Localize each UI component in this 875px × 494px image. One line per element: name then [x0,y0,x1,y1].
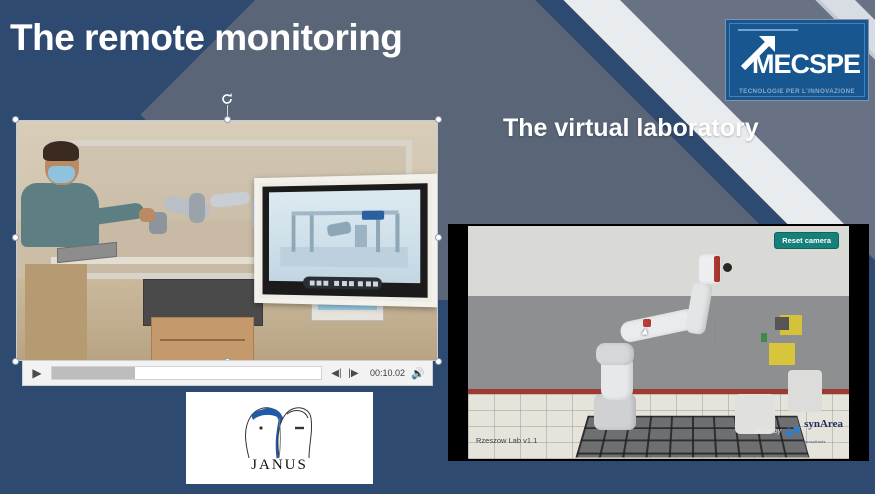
right-section-heading: The virtual laboratory [503,114,759,143]
simulation-yellow-machine-lower [769,343,795,365]
video-controls-bar[interactable]: ▶ ◀| |▶ 00:10.02 🔊 [22,360,433,386]
step-back-button[interactable]: ◀| [328,368,345,379]
reset-camera-button[interactable]: Reset camera [774,232,839,249]
simulation-dark-panel [775,317,789,330]
mecspe-logo: MECSPE TECNOLOGIE PER L'INNOVAZIONE [725,19,869,101]
presentation-slide: The remote monitoring MECSPE TECNOLOGIE … [0,0,875,494]
lab-cardboard-boxes [151,317,254,361]
video-time-label: 00:10.02 [370,368,405,378]
janus-logo: JANUS [183,389,376,487]
wall-display-simulation-image [269,189,421,283]
wall-display-toolbar [304,277,383,290]
synarea-wordmark: synArea [804,418,843,430]
simulation-robot-tool [712,319,715,347]
synarea-logo: synArea consultants [784,415,843,447]
wall-sim-blue-part [362,210,384,219]
operator-hand [139,208,155,222]
simulation-robot-joint-2 [596,343,634,365]
video-progress-bar[interactable] [51,366,322,380]
mecspe-logo-inner: MECSPE TECNOLOGIE PER L'INNOVAZIONE [729,23,865,97]
wall-sim-robot-column [355,225,367,247]
lab-robot-link-2 [189,193,205,223]
operator-hair [43,141,79,161]
synarea-subtitle: consultants [804,440,825,444]
operator-legs [25,264,87,360]
volume-icon[interactable]: 🔊 [410,367,426,380]
mecspe-tagline: TECNOLOGIE PER L'INNOVAZIONE [730,88,864,95]
simulation-viewport[interactable]: Reset camera Rzeszow Lab v1.1 Made by sy… [468,226,849,459]
video-progress-fill [52,367,135,379]
simulation-green-part [761,333,767,342]
wall-sim-robot-arm [327,221,352,237]
janus-two-faces-icon [221,398,339,462]
selection-handle-top-center[interactable] [224,116,231,123]
made-by-label: Made by [754,428,781,435]
selection-handle-top-left[interactable] [12,116,19,123]
lab-photo [17,121,437,360]
simulation-credit: Made by synArea consultants [754,415,843,447]
simulation-robot-marker [643,319,651,327]
slide-title: The remote monitoring [10,17,402,59]
selection-handle-middle-left[interactable] [12,234,19,241]
selection-handle-top-right[interactable] [435,116,442,123]
selection-handle-bottom-left[interactable] [12,358,19,365]
play-button[interactable]: ▶ [29,365,45,381]
wall-display-screen [263,183,428,298]
virtual-lab-simulation-panel[interactable]: Reset camera Rzeszow Lab v1.1 Made by sy… [448,224,869,461]
simulation-white-machine-right [788,370,822,412]
operator-face-mask [48,166,75,183]
selection-handle-middle-right[interactable] [435,234,442,241]
mecspe-wordmark: MECSPE [752,51,860,78]
video-object[interactable] [16,120,438,361]
wall-display [254,174,437,308]
janus-wordmark: JANUS [186,457,373,474]
selection-handle-bottom-right[interactable] [435,358,442,365]
step-forward-button[interactable]: |▶ [345,368,362,379]
simulation-robot-red-band [714,256,720,282]
video-frame[interactable] [16,120,438,361]
synarea-triangles-icon [784,426,802,437]
wall-sim-floor [280,247,407,268]
simulation-version-label: Rzeszow Lab v1.1 [476,436,537,445]
rotate-handle-icon[interactable] [220,92,234,106]
